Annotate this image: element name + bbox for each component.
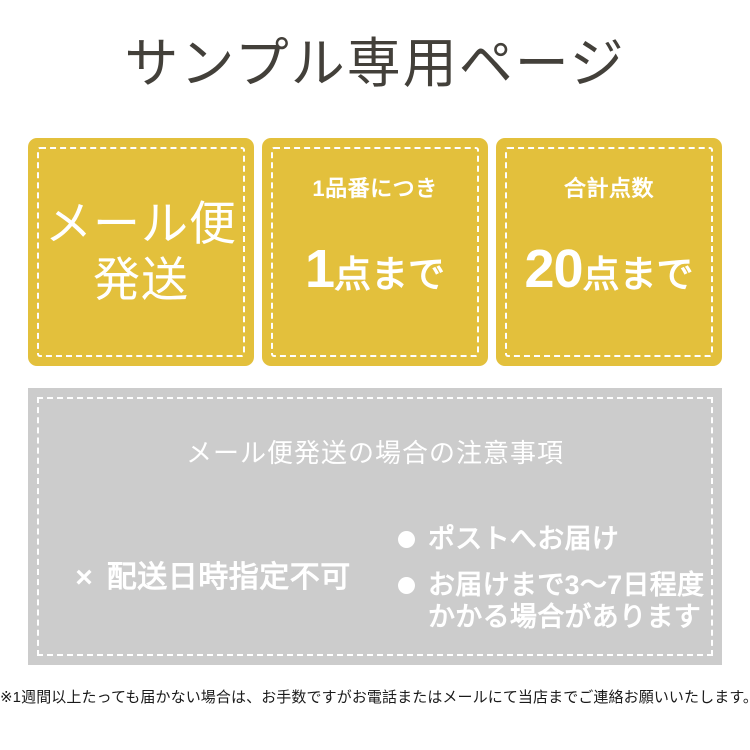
total-limit-number: 20 (524, 242, 582, 296)
feature-box-row: メール便 発送 1品番につき 1 点まで 合計点数 20 点まで (28, 138, 722, 366)
feature-box-total-limit: 合計点数 20 点まで (496, 138, 722, 366)
feature-box-per-item-limit-content: 1品番につき 1 点まで (262, 138, 488, 366)
notice-heading: メール便発送の場合の注意事項 (28, 438, 722, 468)
bullet-text-delivery-duration: お届けまで3〜7日程度かかる場合があります (428, 569, 704, 633)
bullet-dot-icon (398, 577, 415, 594)
list-item: お届けまで3〜7日程度かかる場合があります (398, 569, 722, 633)
page-title: サンプル専用ページ (0, 34, 750, 94)
cross-mark-icon: × (75, 561, 93, 595)
per-item-limit-caption: 1品番につき (312, 176, 437, 202)
per-item-limit-unit: 点まで (334, 256, 445, 293)
feature-box-per-item-limit: 1品番につき 1 点まで (262, 138, 488, 366)
notice-right-column: ポストへお届け お届けまで3〜7日程度かかる場合があります (398, 523, 722, 633)
mail-shipping-line-1: メール便 (45, 196, 237, 252)
notice-body: × 配送日時指定不可 ポストへお届け お届けまで3〜7日程度かかる場合があります (28, 508, 722, 648)
per-item-limit-amount: 1 点まで (305, 242, 445, 296)
notice-left-column: × 配送日時指定不可 (28, 561, 398, 595)
footnote-text: ※1週間以上たっても届かない場合は、お手数ですがお電話またはメールにて当店までご… (0, 688, 750, 708)
notice-panel: メール便発送の場合の注意事項 × 配送日時指定不可 ポストへお届け お届けまで3… (28, 388, 722, 665)
list-item: ポストへお届け (398, 523, 722, 555)
total-limit-unit: 点まで (583, 256, 694, 293)
bullet-dot-icon (398, 531, 415, 548)
mail-shipping-line-2: 発送 (93, 252, 189, 308)
per-item-limit-number: 1 (305, 242, 334, 296)
total-limit-caption: 合計点数 (564, 176, 654, 202)
feature-box-mail-shipping: メール便 発送 (28, 138, 254, 366)
feature-box-mail-shipping-content: メール便 発送 (28, 138, 254, 366)
total-limit-amount: 20 点まで (524, 242, 693, 296)
sample-shipping-info-page: サンプル専用ページ メール便 発送 1品番につき 1 点まで (0, 0, 750, 750)
no-delivery-time-designation-text: 配送日時指定不可 (107, 561, 351, 595)
feature-box-total-limit-content: 合計点数 20 点まで (496, 138, 722, 366)
bullet-text-post-delivery: ポストへお届け (428, 523, 619, 555)
